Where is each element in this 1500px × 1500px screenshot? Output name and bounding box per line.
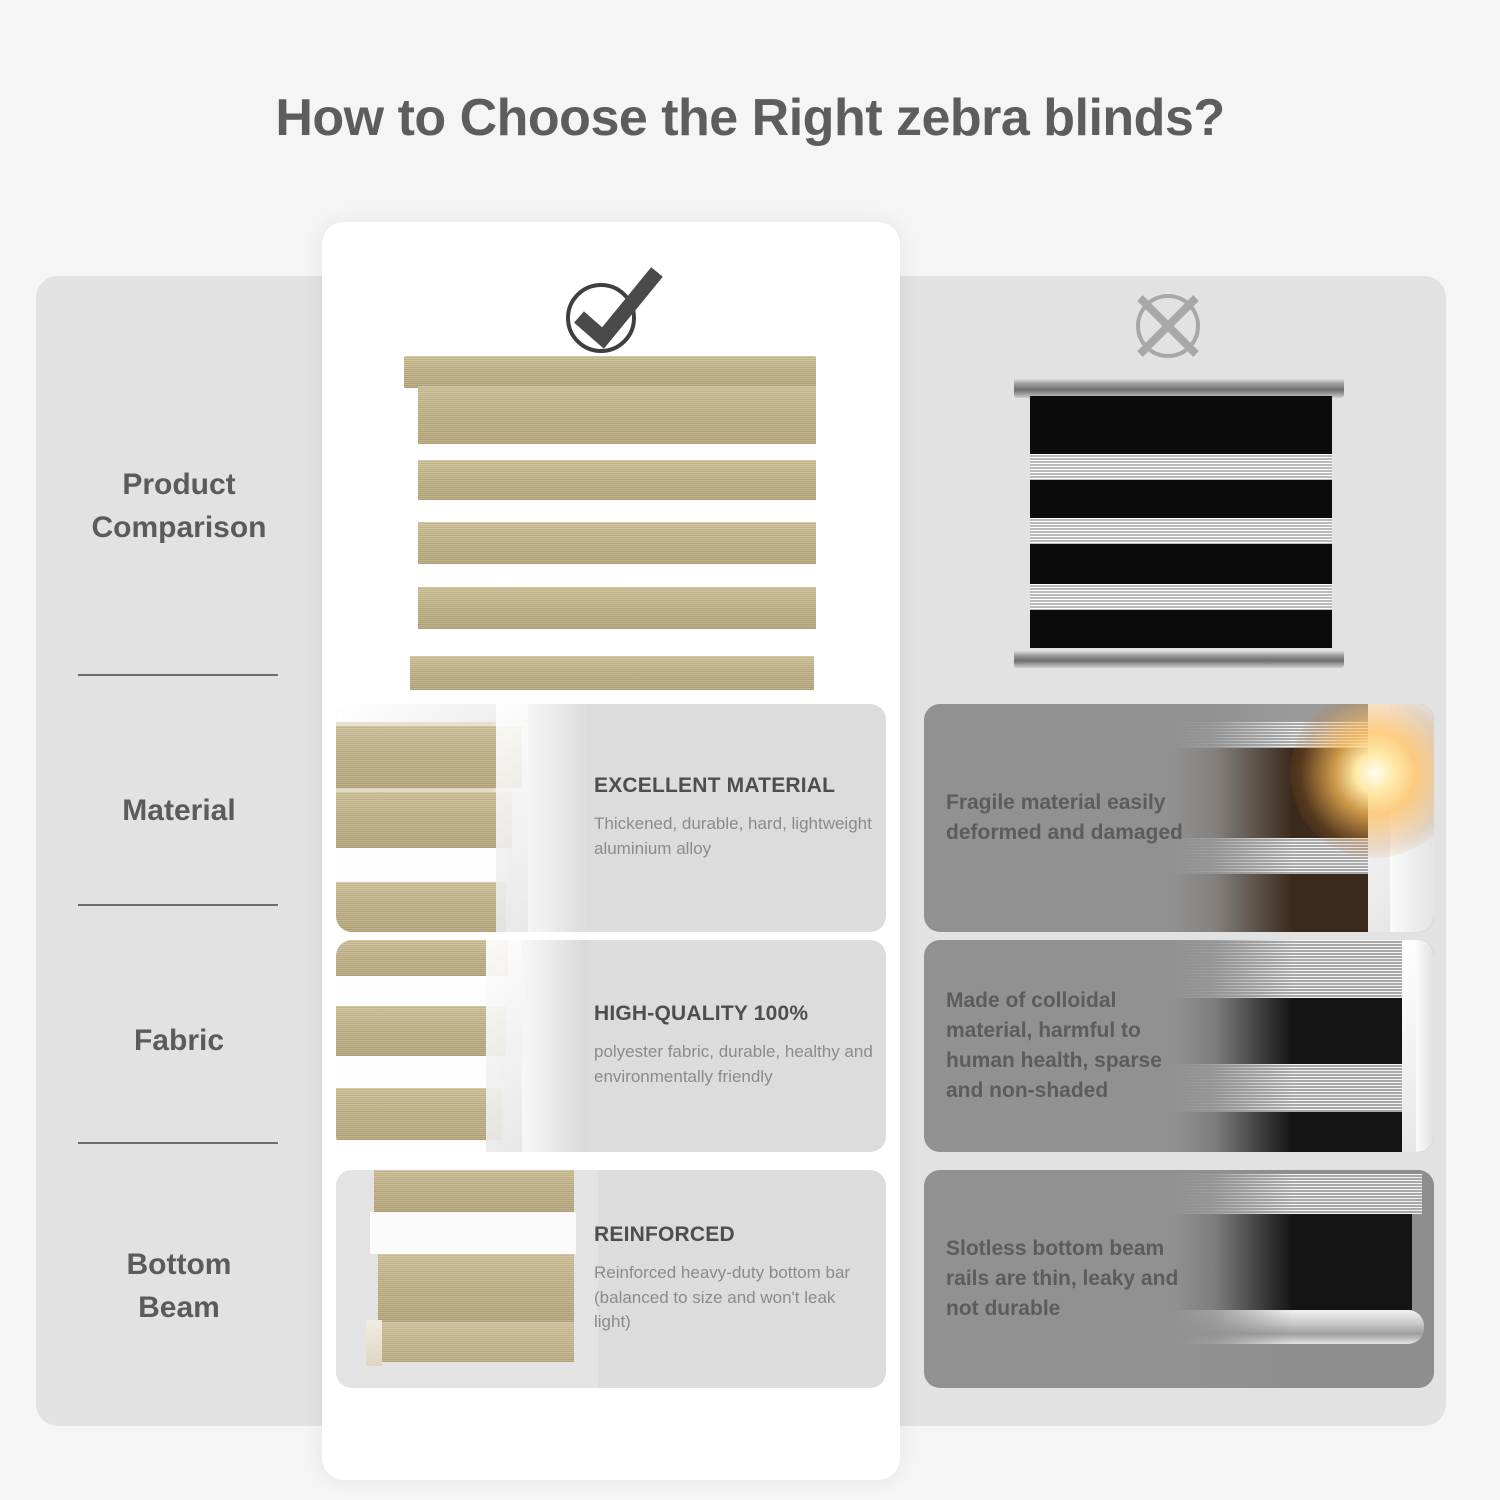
feature-heading: EXCELLENT MATERIAL [594, 774, 876, 798]
feature-heading: REINFORCED [594, 1223, 876, 1247]
sheer-gap [336, 848, 508, 882]
infographic-page: How to Choose the Right zebra blinds? Pr… [0, 0, 1500, 1500]
feature-text-fabric-bad: Made of colloidal material, harmful to h… [946, 940, 1196, 1152]
slat-1 [378, 1254, 574, 1322]
sheer-gap-0 [336, 976, 504, 1006]
bottom-bar [410, 656, 814, 690]
feature-card-bottom-beam-good: REINFORCED Reinforced heavy-duty bottom … [336, 1170, 886, 1388]
sidebar-label-2: Fabric [134, 1019, 224, 1063]
sheer-stripe-1 [1030, 518, 1332, 544]
blind-body [1030, 396, 1332, 648]
sidebar-item-material: Material [36, 746, 322, 876]
feature-card-material-good: EXCELLENT MATERIAL Thickened, durable, h… [336, 704, 886, 932]
slat-3 [418, 587, 816, 629]
slat-2 [418, 522, 816, 564]
sidebar-divider-2 [78, 1142, 278, 1144]
feature-image-fabric-bad [1172, 940, 1434, 1152]
page-title: How to Choose the Right zebra blinds? [0, 88, 1500, 148]
slat-1 [336, 1006, 506, 1056]
feature-text-material-bad: Fragile material easily deformed and dam… [946, 704, 1196, 932]
slat-0 [336, 940, 508, 976]
feature-image-fabric-good [336, 940, 588, 1152]
slat-0 [374, 1170, 574, 1212]
feature-card-bottom-beam-bad: Slotless bottom beam rails are thin, lea… [924, 1170, 1434, 1388]
bottom-rail [1014, 650, 1344, 668]
window-frame-edge [522, 940, 588, 1152]
slat-0 [336, 726, 522, 788]
feature-card-fabric-good: HIGH-QUALITY 100% polyester fabric, dura… [336, 940, 886, 1152]
feature-image-bottom-beam-good [336, 1170, 598, 1388]
feature-negative-text: Slotless bottom beam rails are thin, lea… [946, 1234, 1196, 1323]
feature-image-bottom-beam-bad [1172, 1170, 1434, 1388]
product-image-black-zebra-blind [1014, 378, 1344, 670]
feature-text-fabric-good: HIGH-QUALITY 100% polyester fabric, dura… [594, 940, 884, 1152]
headrail [1014, 378, 1344, 398]
feature-image-material-good [336, 704, 588, 932]
feature-body: Reinforced heavy-duty bottom bar (balanc… [594, 1261, 876, 1335]
feature-text-bottom-beam-good: REINFORCED Reinforced heavy-duty bottom … [594, 1170, 884, 1388]
window-frame-edge [528, 704, 588, 932]
headrail [404, 356, 816, 388]
bottom-bar [370, 1322, 574, 1362]
slat-1 [418, 460, 816, 500]
sidebar-item-bottom-beam: Bottom Beam [36, 1206, 322, 1366]
feature-card-fabric-bad: Made of colloidal material, harmful to h… [924, 940, 1434, 1152]
window-frame-side [496, 704, 528, 932]
slat-0 [418, 386, 816, 444]
window-frame-side [486, 940, 522, 1152]
sidebar-divider-1 [78, 904, 278, 906]
sheer-gap-2 [336, 1140, 500, 1152]
slat-2 [336, 1088, 502, 1140]
x-circle-icon [1118, 282, 1218, 370]
category-sidebar: Product Comparison Material Fabric Botto… [36, 276, 322, 1426]
feature-heading: HIGH-QUALITY 100% [594, 1002, 876, 1026]
feature-body: polyester fabric, durable, healthy and e… [594, 1040, 876, 1089]
check-circle-icon [545, 262, 675, 358]
feature-negative-text: Fragile material easily deformed and dam… [946, 788, 1196, 848]
feature-body: Thickened, durable, hard, lightweight al… [594, 812, 876, 861]
sidebar-label-1: Material [122, 789, 235, 833]
sidebar-label-0: Product Comparison [91, 463, 266, 550]
feature-negative-text: Made of colloidal material, harmful to h… [946, 986, 1196, 1105]
sidebar-item-product-comparison: Product Comparison [36, 426, 322, 586]
sheer-gap-1 [336, 1056, 502, 1088]
feature-card-material-bad: Fragile material easily deformed and dam… [924, 704, 1434, 932]
slat-2 [336, 882, 506, 932]
bottom-bar-endcap [366, 1320, 382, 1366]
product-image-wooden-zebra-blind [404, 356, 816, 698]
sidebar-divider-0 [78, 674, 278, 676]
sheer-gap [370, 1212, 576, 1254]
sheer-stripe-2 [1030, 584, 1332, 610]
feature-text-bottom-beam-bad: Slotless bottom beam rails are thin, lea… [946, 1170, 1196, 1388]
sidebar-item-fabric: Fabric [36, 976, 322, 1106]
feature-image-material-bad [1172, 704, 1434, 932]
slat-1 [336, 792, 512, 848]
sheer-stripe-0 [1030, 454, 1332, 480]
feature-text-material-good: EXCELLENT MATERIAL Thickened, durable, h… [594, 704, 884, 932]
sidebar-label-3: Bottom Beam [127, 1243, 232, 1330]
